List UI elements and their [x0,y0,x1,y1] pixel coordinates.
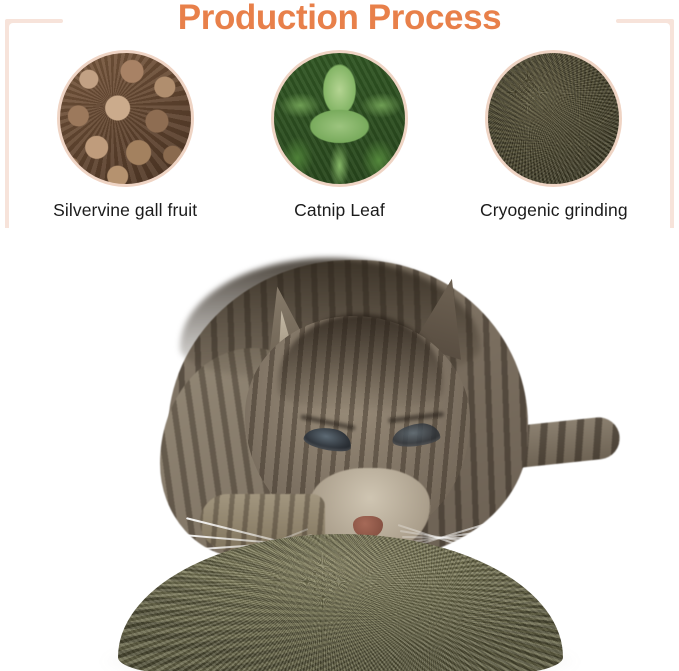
ingredient-label-cryogenic: Cryogenic grinding [480,200,628,221]
ingredient-item-cryogenic: Cryogenic grinding [464,53,644,221]
ingredient-label-catnip: Catnip Leaf [294,200,385,221]
catnip-powder-pile [118,534,563,671]
production-process-poster: Production Process Silvervine gall fruit… [0,0,679,671]
hero-photo [0,228,679,671]
silvervine-gall-fruit-icon [60,53,191,184]
ingredient-row: Silvervine gall fruit Catnip Leaf Cryoge… [0,53,679,221]
ingredient-item-silvervine: Silvervine gall fruit [35,53,215,221]
ingredient-label-silvervine: Silvervine gall fruit [53,200,197,221]
ingredient-item-catnip: Catnip Leaf [249,53,429,221]
catnip-leaf-icon [274,53,405,184]
cryogenic-grinding-icon [488,53,619,184]
page-title: Production Process [0,0,679,40]
